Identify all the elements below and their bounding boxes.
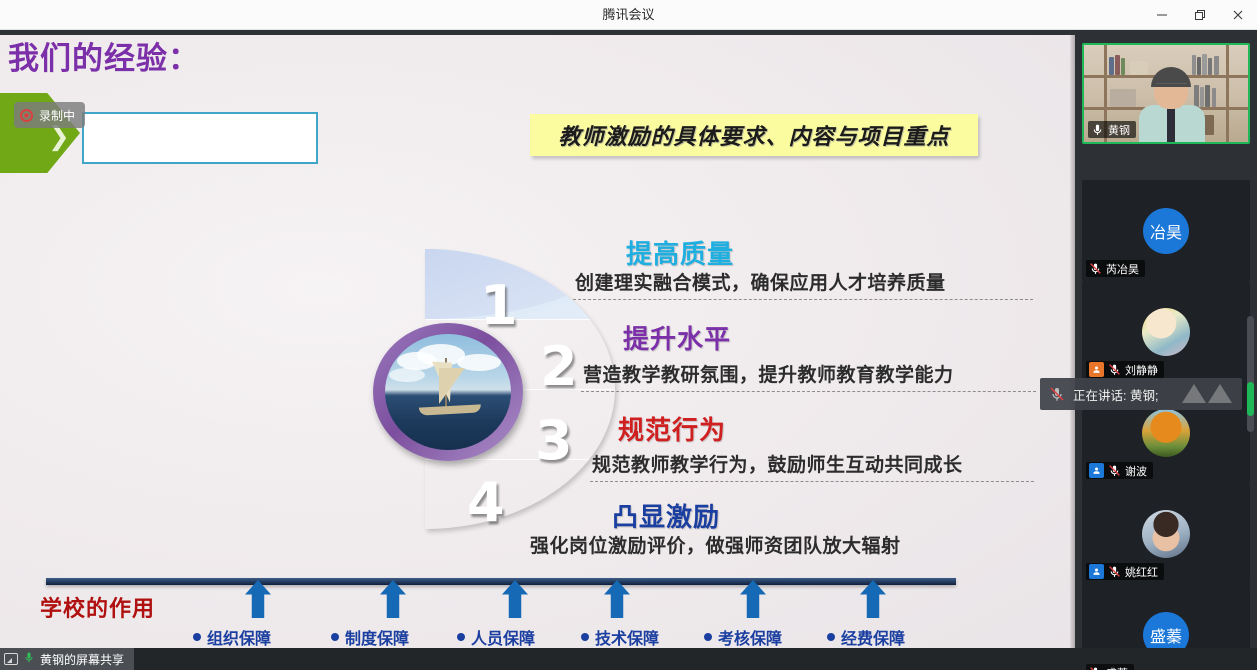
wedge-number-3: 3 [535,409,573,472]
avatar: 冶昊 [1143,208,1189,254]
video-icon [1089,463,1104,478]
monitor-icon [4,653,18,665]
microphone-icon [1091,123,1104,136]
sailboat-image [385,334,511,450]
point-divider-2 [581,391,1036,392]
guarantee-label: 组织保障 [207,625,271,649]
glasses-icon [1156,83,1187,90]
point-detail-2: 营造教学教研氛围，提升教师教育教学能力 [583,360,954,387]
guarantee-item: 人员保障 [457,625,535,649]
slide-section-title: 我们的经验： [0,35,236,83]
recording-badge: 录制中 [14,102,85,128]
guarantee-label: 考核保障 [718,625,782,649]
school-role-label: 学校的作用 [40,591,155,623]
participant-namebar: 谢波 [1086,462,1153,479]
wedge-number-1: 1 [480,274,518,337]
wedge-number-4: 4 [467,471,505,534]
participant-namebar: 刘静静 [1086,361,1164,378]
close-icon [1232,9,1244,21]
bullet-dot-icon [581,633,589,641]
guarantee-item: 考核保障 [704,625,782,649]
participant-namebar: 盛蓁 [1086,664,1134,670]
recording-label: 录制中 [39,107,75,124]
avatar [1142,510,1190,558]
bullet-dot-icon [331,633,339,641]
restore-button[interactable] [1181,0,1219,30]
close-button[interactable] [1219,0,1257,30]
guarantee-item: 组织保障 [193,625,271,649]
guarantee-label: 技术保障 [595,625,659,649]
bullet-dot-icon [704,633,712,641]
guarantee-item: 技术保障 [581,625,659,649]
bullet-dot-icon [193,633,201,641]
sailboat-ring [373,323,523,461]
guarantee-item: 制度保障 [331,625,409,649]
participant-namebar: 黄钢 [1088,121,1136,138]
panel-scrollbar-track[interactable] [1247,316,1254,432]
participant-panel: 黄钢 冶昊 芮冶昊 刘静静 [1075,30,1257,670]
microphone-icon [23,650,35,669]
slide-title-box [82,112,318,164]
participant-namebar: 芮冶昊 [1086,260,1145,277]
wedge-separator [425,319,615,320]
taskbar-item-screen-share[interactable]: 黄钢的屏幕共享 [0,648,134,670]
point-divider-1 [573,299,1033,300]
speaker-tie [1167,107,1175,144]
point-detail-1: 创建理实融合模式，确保应用人才培养质量 [575,268,946,295]
point-heading-4: 凸显激励 [612,497,720,534]
panel-scrollbar-thumb[interactable] [1247,382,1254,416]
point-heading-2: 提升水平 [623,319,731,356]
point-detail-3: 规范教师教学行为，鼓励师生互动共同成长 [592,450,963,477]
wedge-number-2: 2 [540,335,578,398]
microphone-muted-icon [1108,464,1121,477]
point-heading-3: 规范行为 [618,410,726,447]
microphone-muted-icon [1108,565,1121,578]
shared-slide: ❯ 我们的经验： 录制中 教师激励的具体要求、内容与项目重点 1 2 [0,35,1075,667]
timeline-bar [46,578,956,585]
participant-name: 谢波 [1125,463,1147,479]
participant-tile[interactable]: 冶昊 芮冶昊 [1082,180,1250,281]
slide-banner-text: 教师激励的具体要求、内容与项目重点 [558,119,949,151]
bullet-dot-icon [457,633,465,641]
speaking-notice: 正在讲话: 黄钢; [1040,378,1242,410]
microphone-muted-icon [1089,262,1102,275]
bullet-dot-icon [827,633,835,641]
participant-name: 刘静静 [1125,362,1158,378]
participant-name: 黄钢 [1108,122,1130,138]
window-title: 腾讯会议 [0,0,1257,30]
participant-namebar: 姚红红 [1086,563,1164,580]
avatar [1142,308,1190,356]
video-icon [1089,362,1104,377]
point-detail-4: 强化岗位激励评价，做强师资团队放大辐射 [530,531,901,558]
speaking-label: 正在讲话: 黄钢; [1073,385,1158,404]
participant-name: 芮冶昊 [1106,261,1139,277]
participant-tile[interactable]: 黄钢 [1082,43,1250,144]
minimize-button[interactable] [1143,0,1181,30]
record-icon [20,109,33,122]
taskbar-item-label: 黄钢的屏幕共享 [40,651,124,668]
microphone-muted-icon [1089,666,1102,670]
guarantee-item: 经费保障 [827,625,905,649]
taskbar: 黄钢的屏幕共享 [0,648,1257,670]
guarantee-label: 人员保障 [471,625,535,649]
microphone-muted-icon [1049,386,1065,402]
avatar [1142,409,1190,457]
point-heading-1: 提高质量 [626,234,734,271]
slide-banner: 教师激励的具体要求、内容与项目重点 [530,114,978,156]
sound-wave-icon [1182,384,1232,403]
window-titlebar: 腾讯会议 [0,0,1257,30]
guarantee-label: 制度保障 [345,625,409,649]
minimize-icon [1156,9,1168,21]
point-divider-3 [590,481,1034,482]
participant-name: 盛蓁 [1106,665,1128,670]
guarantee-label: 经费保障 [841,625,905,649]
participant-name: 姚红红 [1125,564,1158,580]
meeting-stage: ❯ 我们的经验： 录制中 教师激励的具体要求、内容与项目重点 1 2 [0,30,1257,670]
restore-icon [1194,9,1206,21]
participant-tile[interactable]: 刘静静 [1082,281,1250,382]
microphone-muted-icon [1108,363,1121,376]
participant-tile[interactable]: 姚红红 [1082,483,1250,584]
video-icon [1089,564,1104,579]
